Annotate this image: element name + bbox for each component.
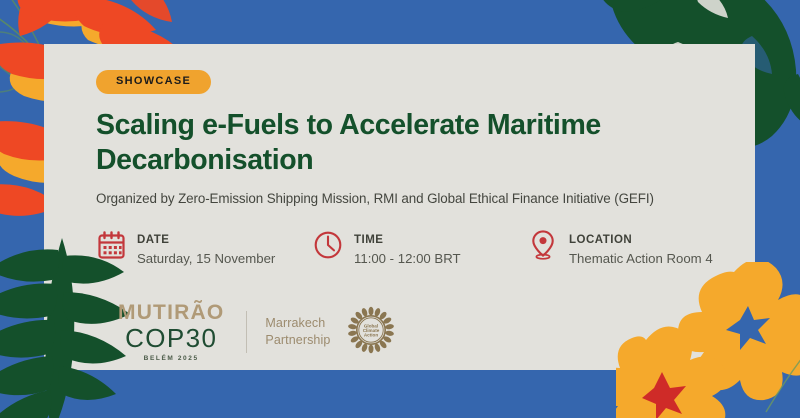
detail-date: DATE Saturday, 15 November	[96, 229, 313, 267]
cop30-logo: MUTIRÃO COP30 BELÉM 2025	[118, 302, 224, 363]
detail-value: Saturday, 15 November	[137, 251, 275, 267]
cop30-wordmark: COP30	[118, 325, 224, 351]
global-climate-action-seal-icon: Global Climate Action	[346, 305, 396, 360]
event-banner: SHOWCASE Scaling e-Fuels to Accelerate M…	[0, 0, 800, 418]
marrakech-line-1: Marrakech	[265, 315, 330, 332]
detail-location: LOCATION Thematic Action Room 4	[528, 229, 731, 267]
marrakech-partnership-wordmark: Marrakech Partnership	[265, 315, 330, 349]
detail-label: DATE	[137, 234, 169, 246]
organizers-subtitle: Organized by Zero-Emission Shipping Miss…	[96, 190, 731, 207]
clock-icon	[313, 229, 343, 261]
calendar-icon	[96, 229, 126, 261]
mutirao-wordmark: MUTIRÃO	[118, 302, 224, 323]
showcase-badge: SHOWCASE	[96, 70, 211, 94]
belem-wordmark: BELÉM 2025	[118, 356, 224, 363]
detail-label: LOCATION	[569, 234, 632, 246]
event-details: DATE Saturday, 15 November TIME 11:0	[96, 229, 731, 267]
detail-time: TIME 11:00 - 12:00 BRT	[313, 229, 528, 267]
detail-label: TIME	[354, 234, 383, 246]
detail-value: 11:00 - 12:00 BRT	[354, 251, 461, 267]
seal-line-3: Action	[364, 332, 378, 337]
logo-divider	[246, 311, 247, 353]
detail-value: Thematic Action Room 4	[569, 251, 713, 267]
page-title: Scaling e-Fuels to Accelerate Maritime D…	[96, 108, 716, 178]
location-pin-icon	[528, 229, 558, 261]
marrakech-line-2: Partnership	[265, 332, 330, 349]
logo-strip: MUTIRÃO COP30 BELÉM 2025 Marrakech Partn…	[118, 302, 396, 363]
